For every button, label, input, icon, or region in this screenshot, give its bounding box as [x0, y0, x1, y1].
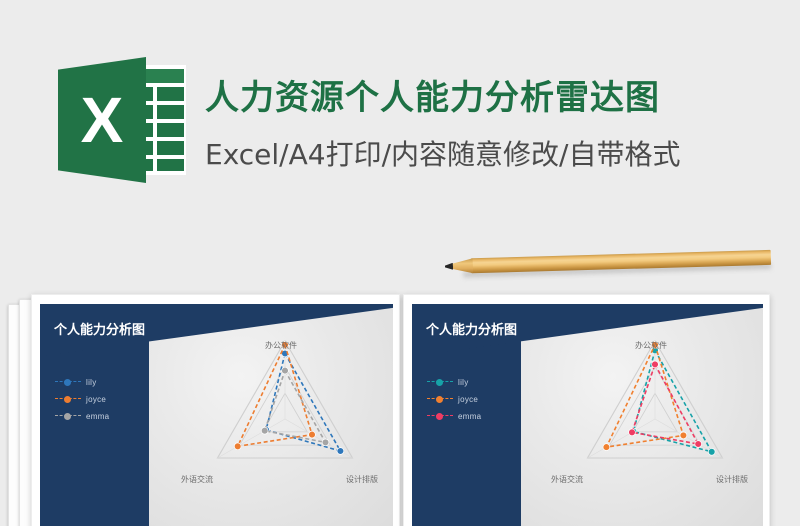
legend-marker-icon: [427, 394, 453, 404]
slide-title-right: 个人能力分析图: [426, 319, 517, 338]
axis-label-top: 办公软件: [635, 340, 667, 351]
legend-marker-icon: [55, 411, 81, 421]
axis-label-bottom-left: 外语交流: [551, 474, 583, 485]
legend-item[interactable]: joyce: [427, 394, 481, 404]
page-subtitle: Excel/A4打印/内容随意修改/自带格式: [205, 133, 680, 173]
axis-label-top: 办公软件: [265, 340, 297, 351]
legend-label: emma: [458, 412, 481, 421]
legend-item[interactable]: emma: [55, 411, 109, 421]
legend-label: lily: [86, 378, 97, 387]
legend-marker-icon: [55, 394, 81, 404]
axis-label-bottom-left: 外语交流: [181, 474, 213, 485]
axis-label-bottom-right: 设计排版: [346, 474, 378, 485]
preview-card-left[interactable]: 个人能力分析图 lily joyce: [31, 294, 400, 526]
slide-left: 个人能力分析图 lily joyce: [40, 304, 393, 526]
preview-card-right-stack: 个人能力分析图 lily joyce: [398, 290, 800, 526]
header-banner: X 人力资源个人能力分析雷达图 Excel/A4打印/内容随意修改/自带格式: [0, 0, 800, 232]
excel-logo-icon: X: [58, 57, 186, 183]
legend-label: joyce: [458, 395, 478, 404]
preview-card-left-stack: 个人能力分析图 lily joyce: [0, 290, 400, 526]
legend-marker-icon: [427, 377, 453, 387]
legend-item[interactable]: joyce: [55, 394, 109, 404]
page-title: 人力资源个人能力分析雷达图: [205, 70, 660, 119]
axis-label-bottom-right: 设计排版: [716, 474, 748, 485]
pencil-icon: [445, 247, 771, 278]
legend-label: joyce: [86, 395, 106, 404]
screenshot-root: X 人力资源个人能力分析雷达图 Excel/A4打印/内容随意修改/自带格式 个…: [0, 0, 800, 526]
chart-legend-left: lily joyce emma: [55, 377, 109, 428]
legend-label: emma: [86, 412, 109, 421]
legend-label: lily: [458, 378, 469, 387]
legend-marker-icon: [55, 377, 81, 387]
legend-marker-icon: [427, 411, 453, 421]
excel-letter-x: X: [58, 57, 146, 183]
preview-card-right[interactable]: 个人能力分析图 lily joyce: [403, 294, 770, 526]
legend-item[interactable]: emma: [427, 411, 481, 421]
legend-item[interactable]: lily: [55, 377, 109, 387]
chart-legend-right: lily joyce emma: [427, 377, 481, 428]
slide-right: 个人能力分析图 lily joyce: [412, 304, 763, 526]
slide-title-left: 个人能力分析图: [54, 319, 145, 338]
legend-item[interactable]: lily: [427, 377, 481, 387]
